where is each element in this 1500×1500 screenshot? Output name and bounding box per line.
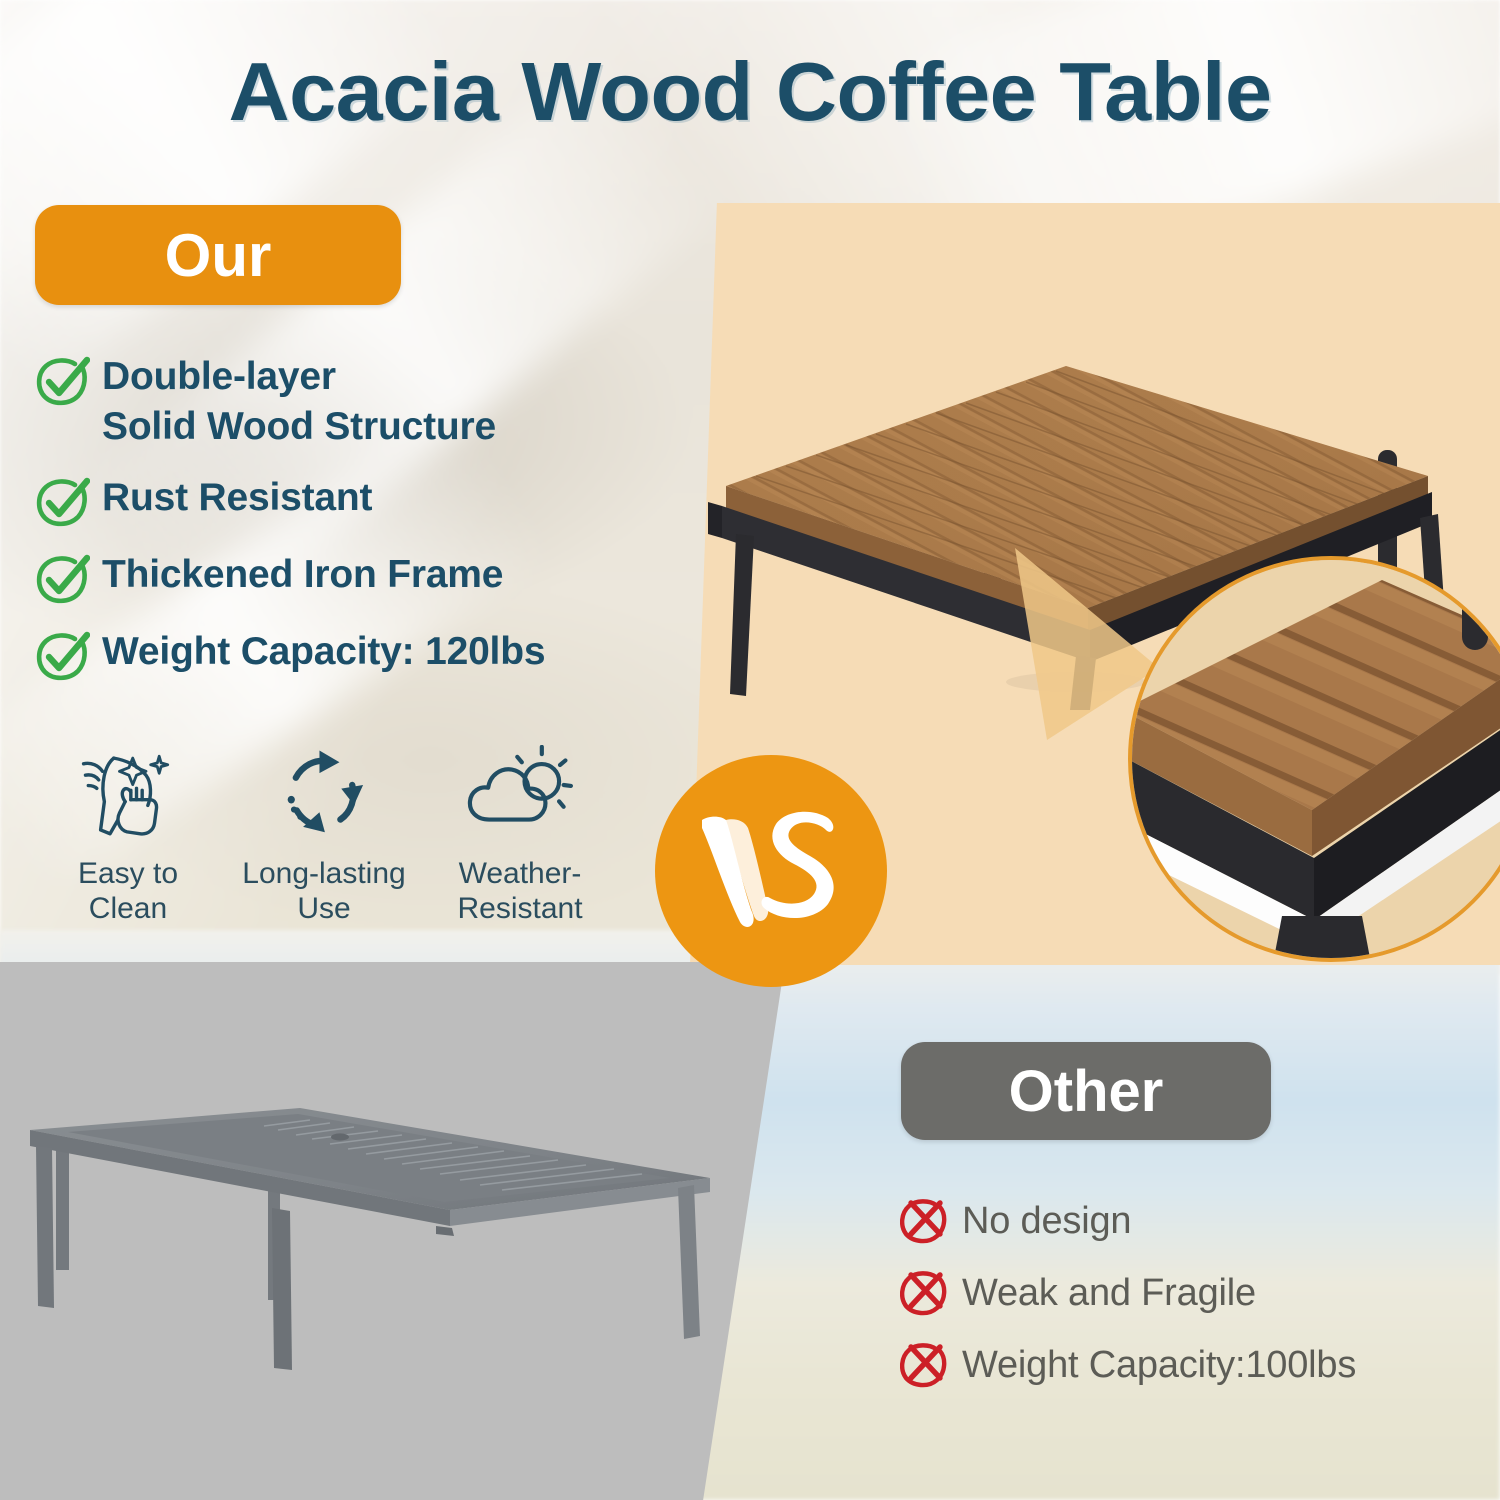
check-circle-icon [36,354,90,408]
list-item-label: Weight Capacity: 120lbs [102,627,545,677]
list-item: Weight Capacity: 120lbs [36,627,646,683]
list-item-label: Double-layer Solid Wood Structure [102,352,496,452]
check-circle-icon [36,475,90,529]
weather-resistant-icon [465,740,575,850]
list-item: Weak and Fragile [900,1268,1500,1318]
benefit-weather-resistant: Weather- Resistant [422,740,618,926]
other-badge: Other [901,1042,1271,1140]
benefit-label: Long-lasting Use [242,856,405,926]
list-item-label: Thickened Iron Frame [102,550,503,600]
benefit-easy-to-clean: Easy to Clean [30,740,226,926]
list-item-label: No design [962,1198,1131,1244]
benefit-label: Easy to Clean [78,856,178,926]
list-item-label: Weight Capacity:100lbs [962,1342,1356,1388]
list-item: Double-layer Solid Wood Structure [36,352,646,452]
vs-badge [655,755,887,987]
benefit-icon-row: Easy to Clean Lon [30,740,640,926]
competitor-product-image [10,1040,730,1440]
benefit-long-lasting-use: Long-lasting Use [226,740,422,926]
other-badge-label: Other [1009,1058,1164,1125]
check-circle-icon [36,629,90,683]
cross-circle-icon [900,1268,950,1318]
our-badge-label: Our [165,221,272,290]
other-drawback-list: No design Weak and Fragile Weight Ca [900,1196,1500,1412]
list-item-label: Rust Resistant [102,473,372,523]
list-item: Weight Capacity:100lbs [900,1340,1500,1390]
list-item: Thickened Iron Frame [36,550,646,606]
cross-circle-icon [900,1340,950,1390]
benefit-label: Weather- Resistant [457,856,582,926]
long-lasting-use-icon [274,740,374,850]
easy-to-clean-icon [76,740,180,850]
page-title: Acacia Wood Coffee Table [0,44,1500,140]
cross-circle-icon [900,1196,950,1246]
list-item-label: Weak and Fragile [962,1270,1256,1316]
check-circle-icon [36,552,90,606]
list-item: No design [900,1196,1500,1246]
infographic-canvas: Acacia Wood Coffee Table Our Double-laye… [0,0,1500,1500]
list-item: Rust Resistant [36,473,646,529]
vs-label-glyph [686,796,856,946]
our-badge: Our [35,205,401,305]
our-feature-list: Double-layer Solid Wood Structure Rust R… [36,352,646,704]
